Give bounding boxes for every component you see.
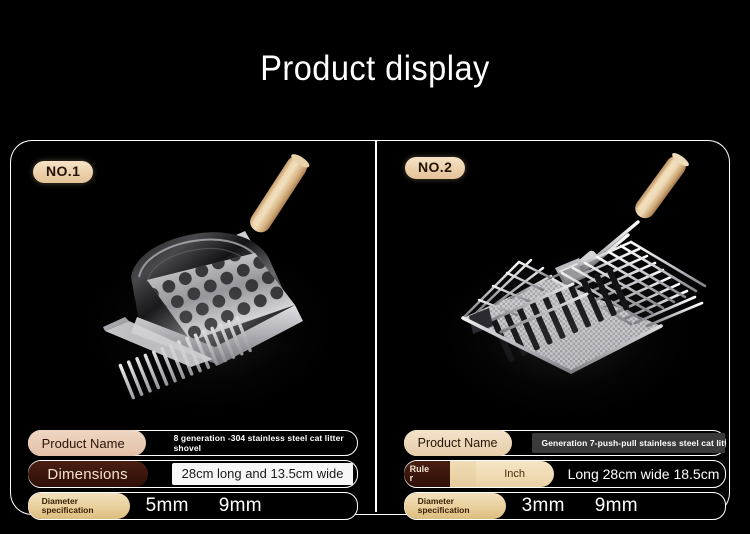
spec-value-diameter-2-wrap: 3mm 9mm xyxy=(506,496,725,516)
product-image-2 xyxy=(455,150,725,400)
ruler-unit-divider xyxy=(450,461,476,487)
scoop-mesh-illustration xyxy=(455,150,725,400)
spec-row-product-name-1: Product Name 8 generation -304 stainless… xyxy=(28,430,358,456)
spec-value-product-name-1: 8 generation -304 stainless steel cat li… xyxy=(160,433,357,453)
spec-label-diameter-2: Diameter specification xyxy=(404,493,506,519)
spec-value-product-name-2: Generation 7-push-pull stainless steel c… xyxy=(532,433,725,453)
spec-list-product-2: Product Name Generation 7-push-pull stai… xyxy=(404,430,726,524)
spec-row-diameter-2: Diameter specification 3mm 9mm xyxy=(404,492,726,520)
spec-value-product-name-1-wrap: 8 generation -304 stainless steel cat li… xyxy=(146,433,357,453)
spec-label-product-name-1: Product Name xyxy=(28,430,146,456)
page-title: Product display xyxy=(26,48,724,90)
spec-label-ruler-2: Rule r xyxy=(404,461,450,487)
spec-label-inch-2: Inch xyxy=(476,461,554,487)
spec-label-product-name-2: Product Name xyxy=(404,430,512,456)
spec-label-ruler-2-line2: r xyxy=(410,474,430,484)
product-badge-1: NO.1 xyxy=(33,161,93,183)
spec-value-dimensions-1-wrap: 28cm long and 13.5cm wide xyxy=(148,463,357,485)
scoop-solid-illustration xyxy=(95,145,325,400)
spec-value-diameter-1a: 5mm xyxy=(146,496,189,516)
product-image-1 xyxy=(95,145,325,400)
spec-value-product-name-2-wrap: Generation 7-push-pull stainless steel c… xyxy=(512,433,725,453)
panel-divider xyxy=(375,140,377,512)
spec-value-diameter-1-wrap: 5mm 9mm xyxy=(130,496,357,516)
spec-value-ruler-2: Long 28cm wide 18.5cm xyxy=(554,466,725,482)
spec-value-diameter-2a: 3mm xyxy=(522,496,565,516)
spec-label-diameter-2-line2: specification xyxy=(418,506,470,516)
product-display-page: Product display NO.1 NO.2 xyxy=(0,0,750,534)
spec-row-product-name-2: Product Name Generation 7-push-pull stai… xyxy=(404,430,726,456)
spec-label-dimensions-1: Dimensions xyxy=(28,461,148,487)
spec-row-ruler-2: Rule r Inch Long 28cm wide 18.5cm xyxy=(404,460,726,488)
spec-row-dimensions-1: Dimensions 28cm long and 13.5cm wide xyxy=(28,460,358,488)
spec-label-diameter-1-line2: specification xyxy=(42,506,94,516)
spec-row-diameter-1: Diameter specification 5mm 9mm xyxy=(28,492,358,520)
spec-value-dimensions-1: 28cm long and 13.5cm wide xyxy=(172,463,354,485)
spec-list-product-1: Product Name 8 generation -304 stainless… xyxy=(28,430,358,524)
spec-label-diameter-1: Diameter specification xyxy=(28,493,130,519)
spec-value-diameter-1b: 9mm xyxy=(219,496,262,516)
spec-value-diameter-2b: 9mm xyxy=(595,496,638,516)
